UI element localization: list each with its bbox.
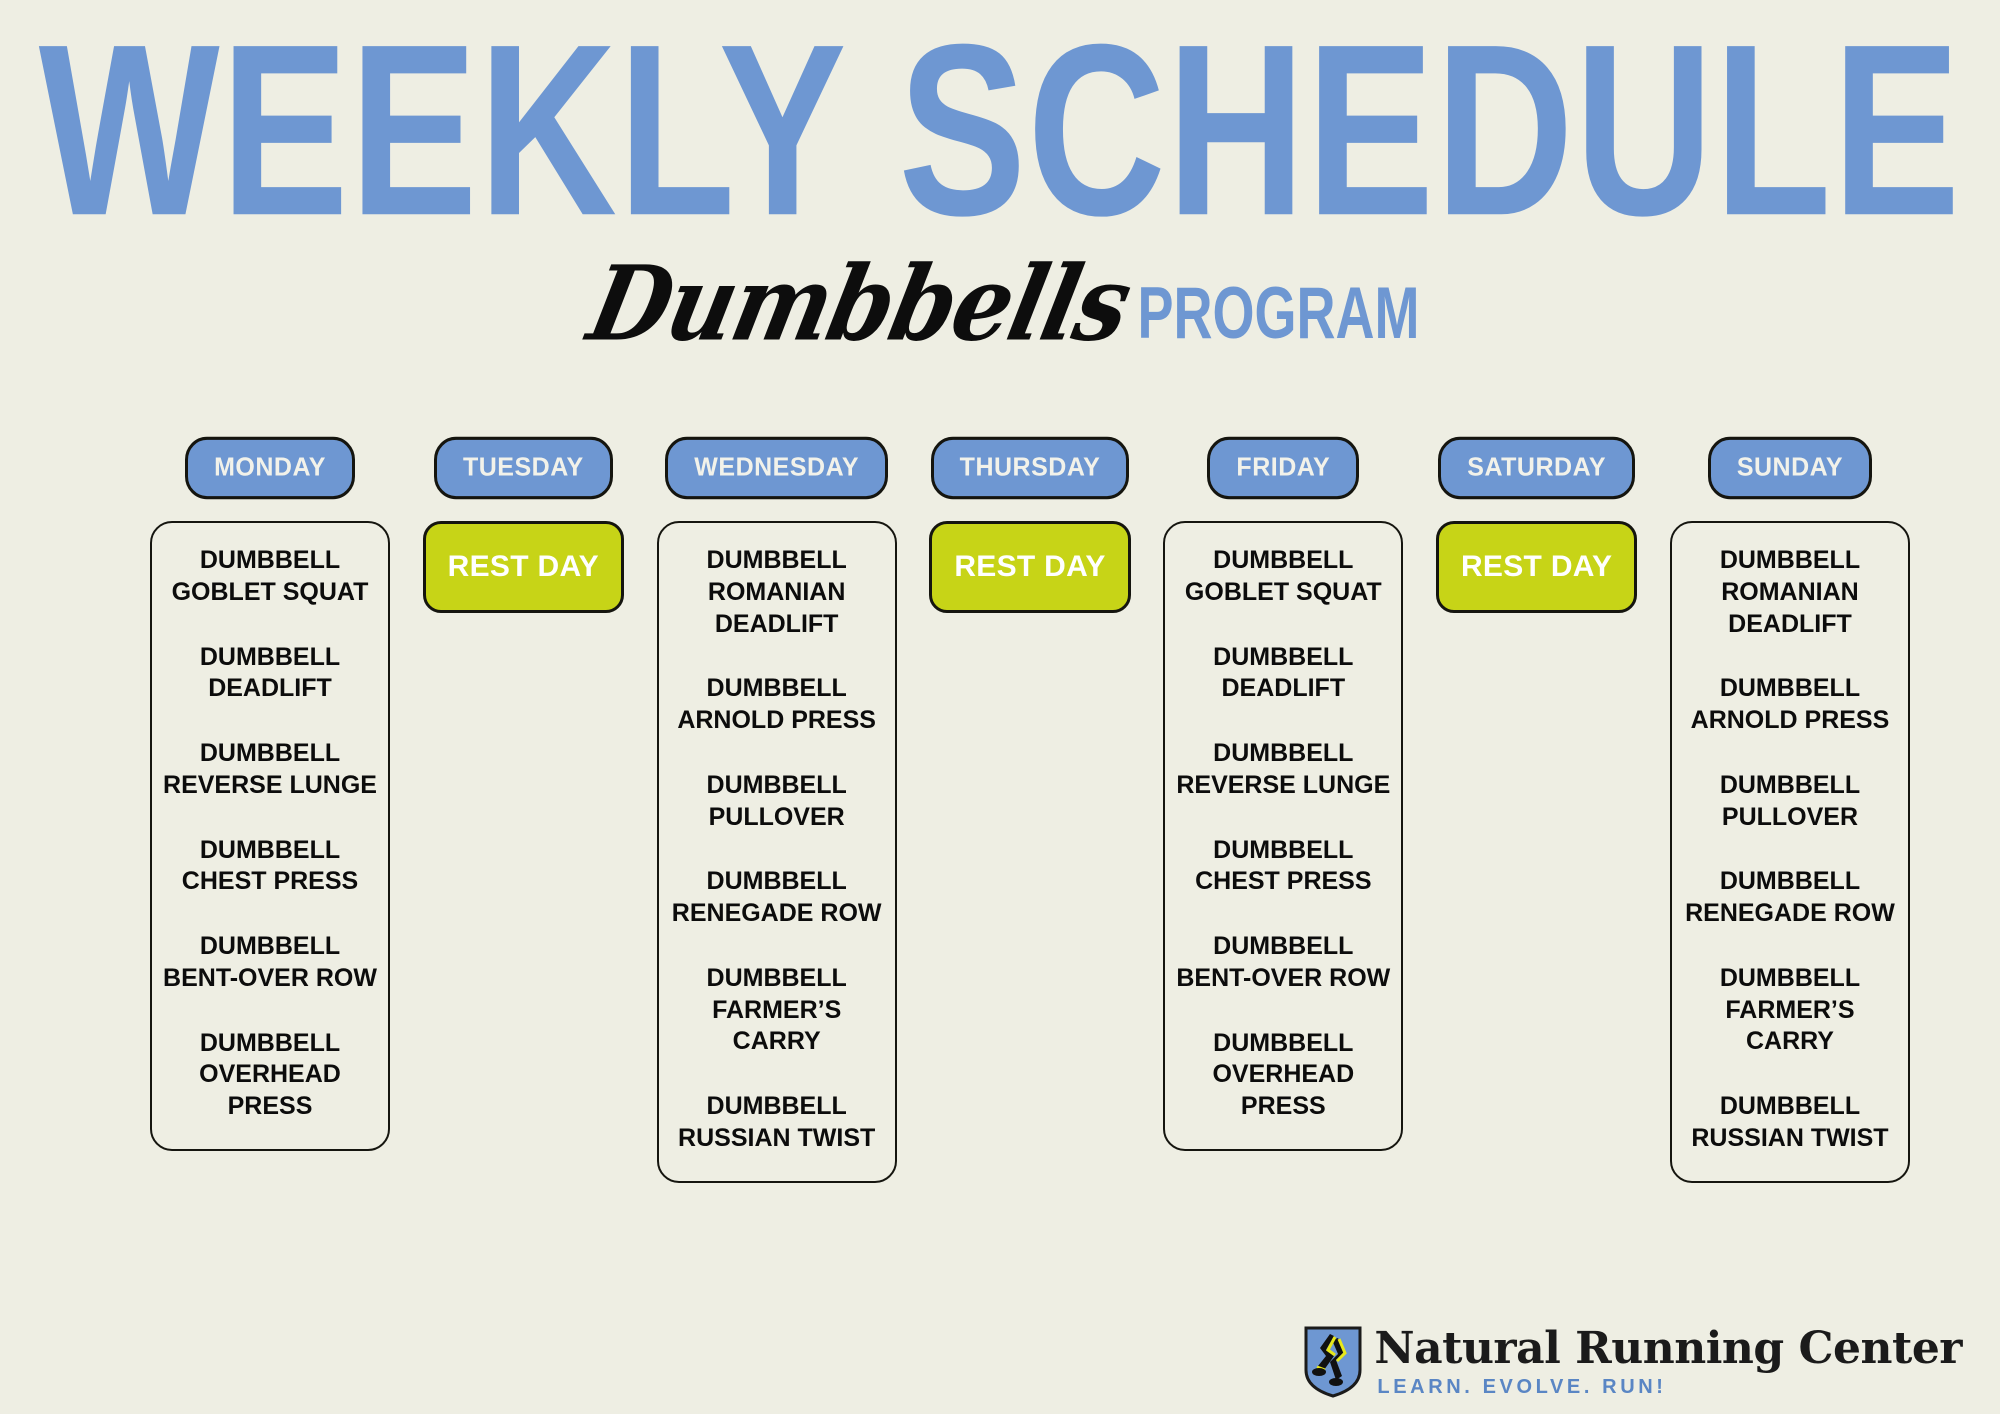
program-label: PROGRAM bbox=[1137, 277, 1419, 350]
exercise-item: DUMBBELL FARMER’S CARRY bbox=[669, 963, 885, 1058]
day-column-sunday: SUNDAYDUMBBELL ROMANIAN DEADLIFTDUMBBELL… bbox=[1670, 438, 1910, 1183]
week-grid: MONDAYDUMBBELL GOBLET SQUATDUMBBELL DEAD… bbox=[150, 438, 1910, 1183]
program-script-word: Dumbbells bbox=[581, 252, 1138, 355]
day-header-friday[interactable]: FRIDAY bbox=[1207, 437, 1359, 499]
logo-name: Natural Running Center bbox=[1374, 1327, 1962, 1371]
exercise-item: DUMBBELL ROMANIAN DEADLIFT bbox=[1682, 545, 1898, 640]
page-title: WEEKLY SCHEDULE bbox=[0, 18, 2000, 243]
logo-text: Natural Running Center LEARN. EVOLVE. RU… bbox=[1374, 1327, 1962, 1397]
brand-logo: Natural Running Center LEARN. EVOLVE. RU… bbox=[1304, 1326, 1962, 1398]
day-column-wednesday: WEDNESDAYDUMBBELL ROMANIAN DEADLIFTDUMBB… bbox=[657, 438, 897, 1183]
exercise-item: DUMBBELL OVERHEAD PRESS bbox=[1175, 1028, 1391, 1123]
exercise-item: DUMBBELL DEADLIFT bbox=[1175, 642, 1391, 706]
exercise-item: DUMBBELL GOBLET SQUAT bbox=[1175, 545, 1391, 609]
exercise-item: DUMBBELL ARNOLD PRESS bbox=[1682, 673, 1898, 737]
exercise-item: DUMBBELL DEADLIFT bbox=[162, 642, 378, 706]
exercise-card: DUMBBELL ROMANIAN DEADLIFTDUMBBELL ARNOL… bbox=[657, 521, 897, 1183]
day-column-friday: FRIDAYDUMBBELL GOBLET SQUATDUMBBELL DEAD… bbox=[1163, 438, 1403, 1151]
exercise-item: DUMBBELL BENT-OVER ROW bbox=[1175, 931, 1391, 995]
poster-header: WEEKLY SCHEDULE Dumbbells PROGRAM bbox=[0, 0, 2000, 355]
exercise-item: DUMBBELL OVERHEAD PRESS bbox=[162, 1028, 378, 1123]
day-column-thursday: THURSDAYREST DAY bbox=[910, 438, 1150, 613]
exercise-item: DUMBBELL REVERSE LUNGE bbox=[162, 738, 378, 802]
day-header-thursday[interactable]: THURSDAY bbox=[931, 437, 1130, 499]
exercise-card: DUMBBELL ROMANIAN DEADLIFTDUMBBELL ARNOL… bbox=[1670, 521, 1910, 1183]
exercise-item: DUMBBELL REVERSE LUNGE bbox=[1175, 738, 1391, 802]
exercise-item: DUMBBELL ROMANIAN DEADLIFT bbox=[669, 545, 885, 640]
exercise-item: DUMBBELL RUSSIAN TWIST bbox=[1682, 1091, 1898, 1155]
exercise-item: DUMBBELL ARNOLD PRESS bbox=[669, 673, 885, 737]
subtitle-row: Dumbbells PROGRAM bbox=[0, 263, 2000, 355]
day-header-monday[interactable]: MONDAY bbox=[185, 437, 355, 499]
rest-day-badge: REST DAY bbox=[423, 521, 624, 613]
exercise-item: DUMBBELL CHEST PRESS bbox=[162, 835, 378, 899]
day-column-monday: MONDAYDUMBBELL GOBLET SQUATDUMBBELL DEAD… bbox=[150, 438, 390, 1151]
runner-shield-icon bbox=[1304, 1326, 1362, 1398]
day-header-wednesday[interactable]: WEDNESDAY bbox=[665, 437, 888, 499]
exercise-item: DUMBBELL RENEGADE ROW bbox=[669, 866, 885, 930]
exercise-item: DUMBBELL PULLOVER bbox=[1682, 770, 1898, 834]
exercise-card: DUMBBELL GOBLET SQUATDUMBBELL DEADLIFTDU… bbox=[150, 521, 390, 1151]
exercise-item: DUMBBELL RENEGADE ROW bbox=[1682, 866, 1898, 930]
day-column-tuesday: TUESDAYREST DAY bbox=[403, 438, 643, 613]
exercise-card: DUMBBELL GOBLET SQUATDUMBBELL DEADLIFTDU… bbox=[1163, 521, 1403, 1151]
exercise-item: DUMBBELL FARMER’S CARRY bbox=[1682, 963, 1898, 1058]
exercise-item: DUMBBELL GOBLET SQUAT bbox=[162, 545, 378, 609]
day-header-sunday[interactable]: SUNDAY bbox=[1708, 437, 1872, 499]
exercise-item: DUMBBELL BENT-OVER ROW bbox=[162, 931, 378, 995]
rest-day-badge: REST DAY bbox=[929, 521, 1130, 613]
day-header-saturday[interactable]: SATURDAY bbox=[1438, 437, 1635, 499]
rest-day-badge: REST DAY bbox=[1436, 521, 1637, 613]
exercise-item: DUMBBELL PULLOVER bbox=[669, 770, 885, 834]
exercise-item: DUMBBELL CHEST PRESS bbox=[1175, 835, 1391, 899]
logo-tagline: LEARN. EVOLVE. RUN! bbox=[1377, 1377, 1962, 1397]
day-header-tuesday[interactable]: TUESDAY bbox=[434, 437, 613, 499]
day-column-saturday: SATURDAYREST DAY bbox=[1417, 438, 1657, 613]
exercise-item: DUMBBELL RUSSIAN TWIST bbox=[669, 1091, 885, 1155]
